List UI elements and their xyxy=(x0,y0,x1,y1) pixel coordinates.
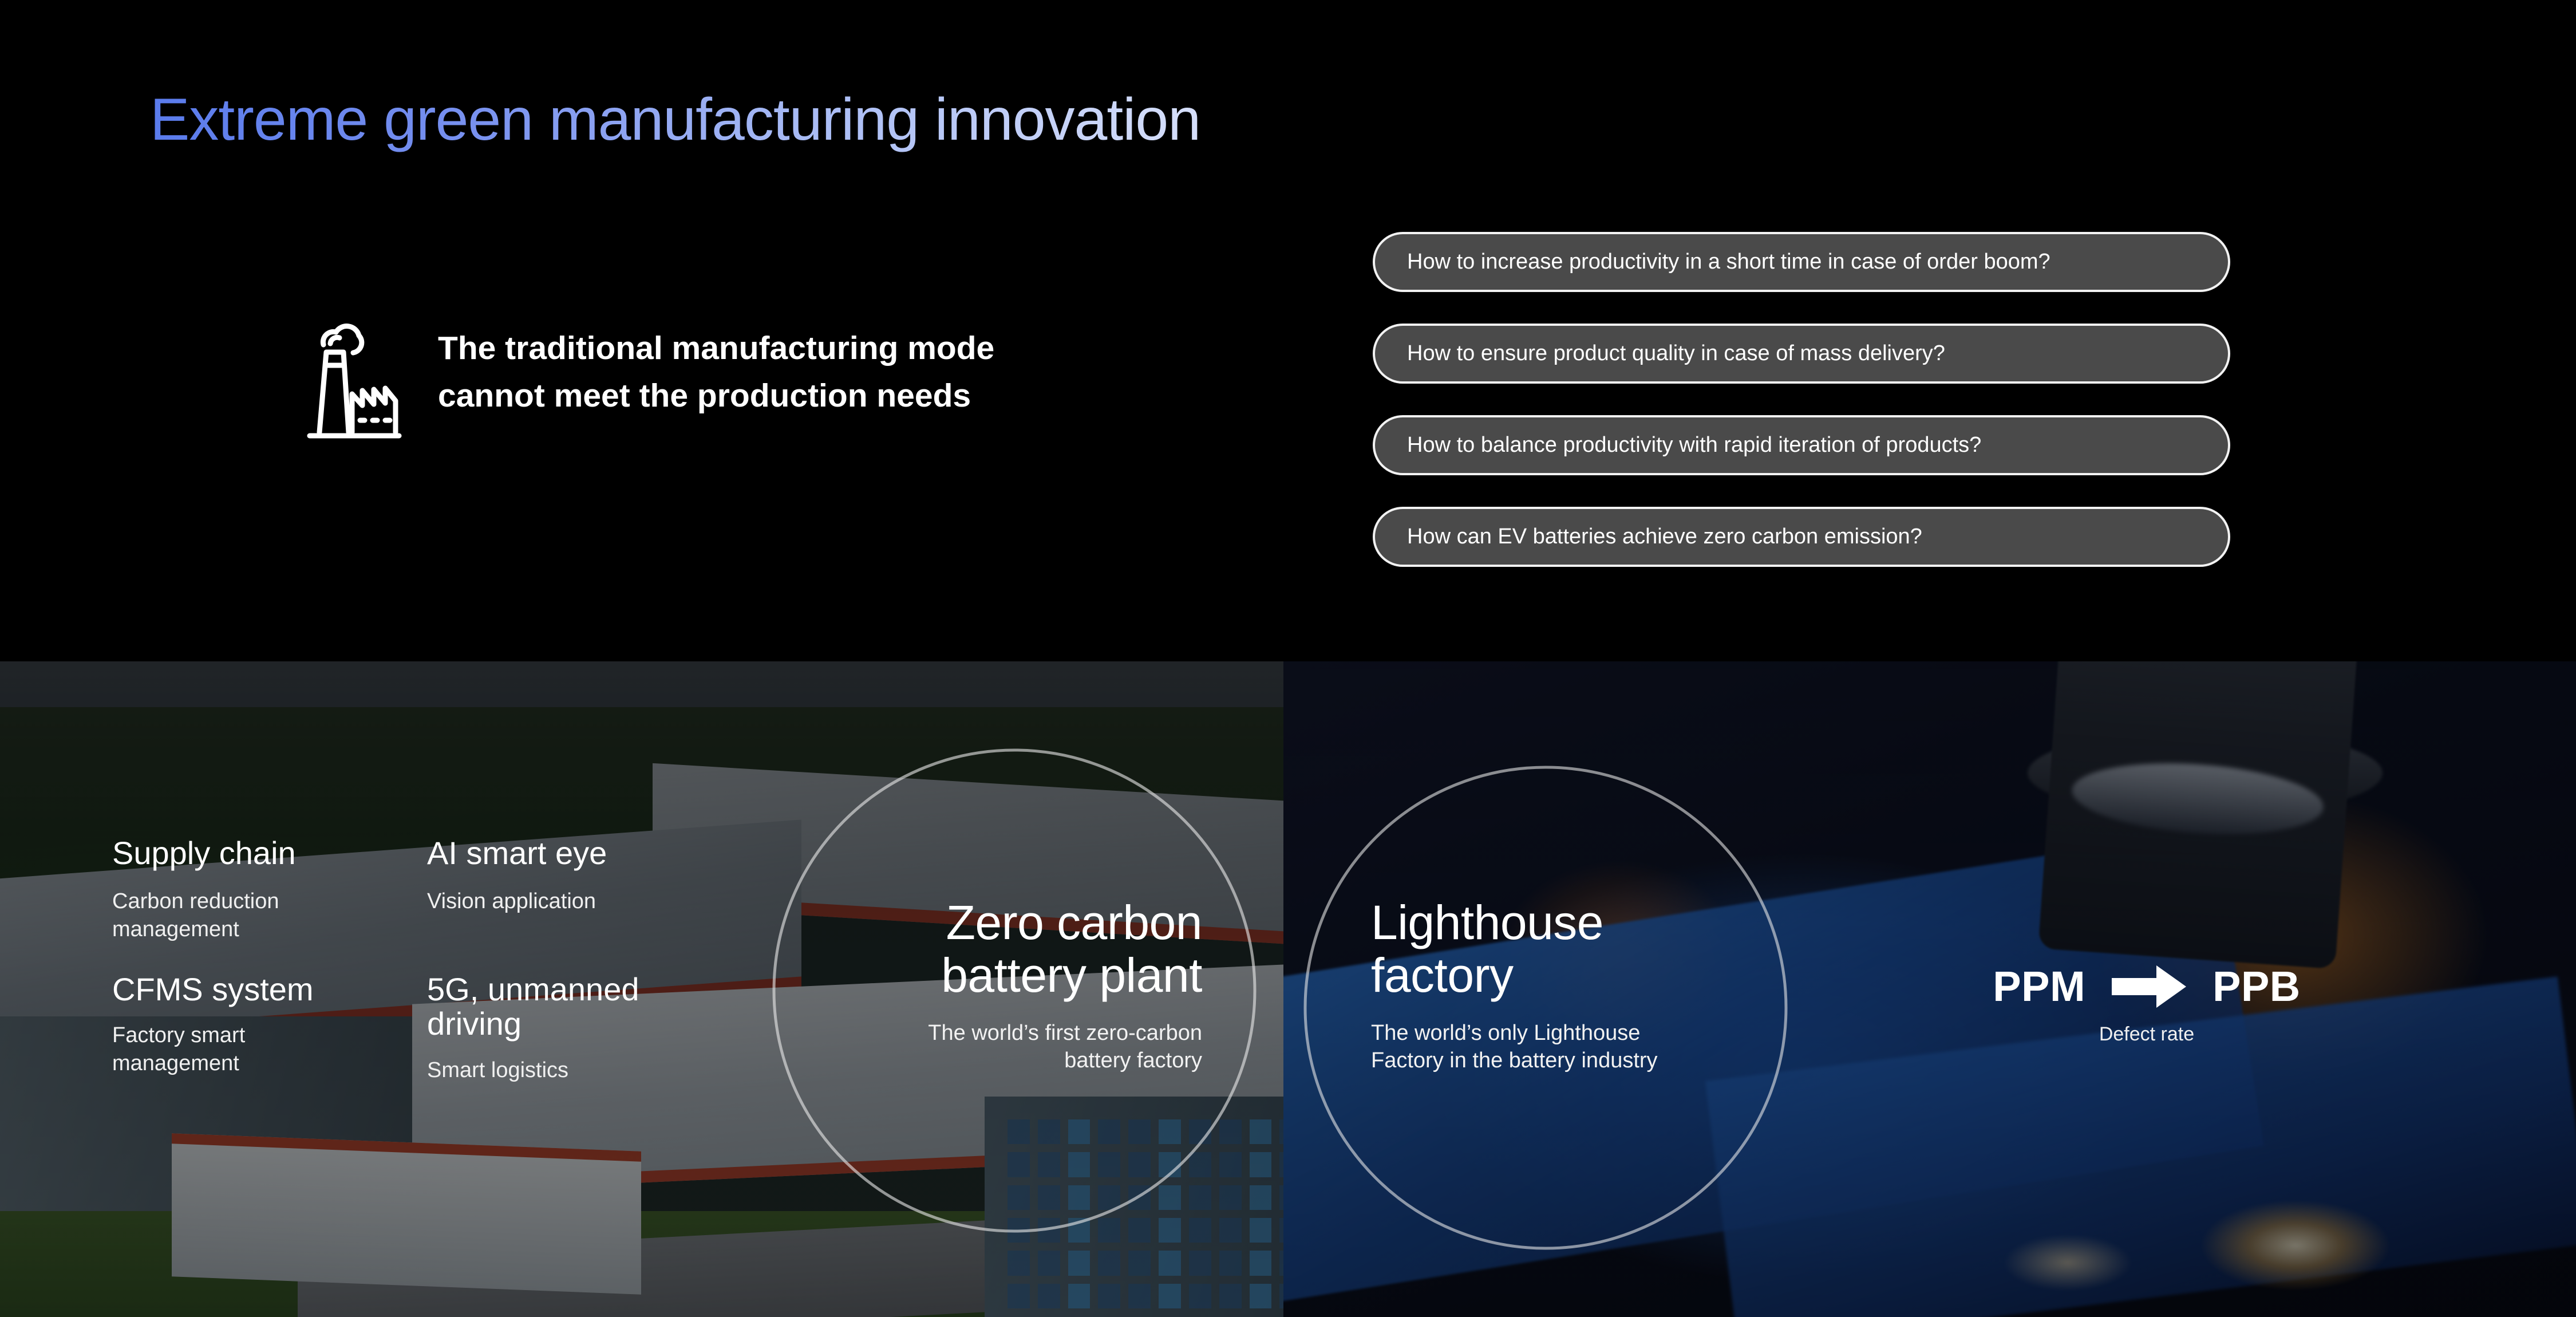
callout-subtitle: The world’s only Lighthouse Factory in t… xyxy=(1371,1019,1783,1075)
label-title: 5G, unmanned driving xyxy=(427,972,742,1042)
label-title: Supply chain xyxy=(112,836,427,870)
label-ai-smart-eye: AI smart eye Vision application xyxy=(427,836,742,944)
statement-line-2: cannot meet the production needs xyxy=(438,372,994,420)
label-title: AI smart eye xyxy=(427,836,742,870)
callout-title: Zero carbon battery plant xyxy=(727,896,1202,1002)
metric-caption: Defect rate xyxy=(1946,1023,2347,1046)
question-pill-4[interactable]: How can EV batteries achieve zero carbon… xyxy=(1373,507,2230,567)
label-subtitle: Factory smart management xyxy=(112,1022,427,1077)
label-subtitle: Smart logistics xyxy=(427,1056,742,1085)
label-title: CFMS system xyxy=(112,972,427,1007)
label-subtitle: Vision application xyxy=(427,888,742,916)
label-5g-unmanned-driving: 5G, unmanned driving Smart logistics xyxy=(427,972,742,1085)
page-title: Extreme green manufacturing innovation xyxy=(150,86,1200,154)
arrow-right-icon xyxy=(2112,965,2186,1008)
question-pill-3[interactable]: How to balance productivity with rapid i… xyxy=(1373,415,2230,475)
metric-from: PPM xyxy=(1993,962,2085,1011)
question-pill-list: How to increase productivity in a short … xyxy=(1373,232,2230,567)
left-photo-label-group: Supply chain Carbon reduction management… xyxy=(112,836,799,1084)
label-subtitle: Carbon reduction management xyxy=(112,888,427,943)
lighthouse-factory-callout: Lighthouse factory The world’s only Ligh… xyxy=(1371,896,1783,1075)
statement-text: The traditional manufacturing mode canno… xyxy=(438,325,994,419)
traditional-manufacturing-statement: The traditional manufacturing mode canno… xyxy=(301,303,994,441)
question-pill-1[interactable]: How to increase productivity in a short … xyxy=(1373,232,2230,292)
callout-subtitle: The world’s first zero-carbon battery fa… xyxy=(727,1019,1202,1075)
defect-rate-metric: PPM PPB Defect rate xyxy=(1946,962,2347,1046)
label-cfms-system: CFMS system Factory smart management xyxy=(112,972,427,1085)
callout-title: Lighthouse factory xyxy=(1371,896,1783,1002)
top-dark-section: Extreme green manufacturing innovation T… xyxy=(0,0,2576,661)
label-supply-chain: Supply chain Carbon reduction management xyxy=(112,836,427,944)
zero-carbon-battery-plant-callout: Zero carbon battery plant The world’s fi… xyxy=(727,896,1202,1075)
question-pill-2[interactable]: How to ensure product quality in case of… xyxy=(1373,324,2230,384)
metric-row: PPM PPB xyxy=(1946,962,2347,1011)
factory-icon xyxy=(301,303,404,441)
metric-to: PPB xyxy=(2212,962,2301,1011)
statement-line-1: The traditional manufacturing mode xyxy=(438,325,994,372)
